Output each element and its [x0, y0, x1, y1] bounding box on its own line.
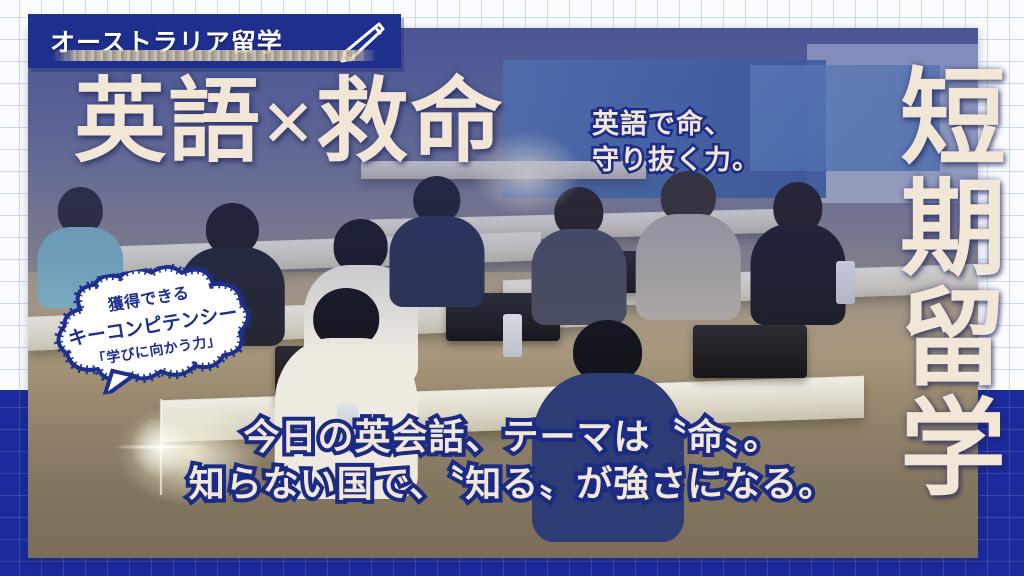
photo-water-bottle [503, 314, 522, 356]
bottom-caption: 今日の英会話、テーマは〝命〟。 知らない国で、〝知る〟が強さになる。 [0, 414, 1024, 508]
sub-copy-line-1: 英語で命、 [592, 107, 760, 143]
poster-stage: 英語×救命 英語で命、 守り抜く力。 短期留学 獲得できる キーコンピテンシー … [0, 0, 1024, 576]
sub-copy: 英語で命、 守り抜く力。 [592, 107, 760, 178]
study-abroad-badge[interactable]: オーストラリア留学 [28, 14, 401, 68]
caption-line-2: 知らない国で、〝知る〟が強さになる。 [0, 461, 1024, 508]
photo-student [636, 171, 741, 314]
badge-label: オーストラリア留学 [50, 23, 283, 59]
pencil-icon [333, 20, 387, 71]
sub-copy-line-2: 守り抜く力。 [592, 143, 760, 179]
caption-line-1: 今日の英会話、テーマは〝命〟。 [0, 414, 1024, 461]
photo-chair [693, 325, 807, 378]
photo-water-bottle [836, 261, 855, 303]
main-headline: 英語×救命 [74, 76, 504, 168]
photo-student [389, 176, 484, 303]
photo-student [750, 182, 845, 320]
photo-student [532, 187, 627, 320]
